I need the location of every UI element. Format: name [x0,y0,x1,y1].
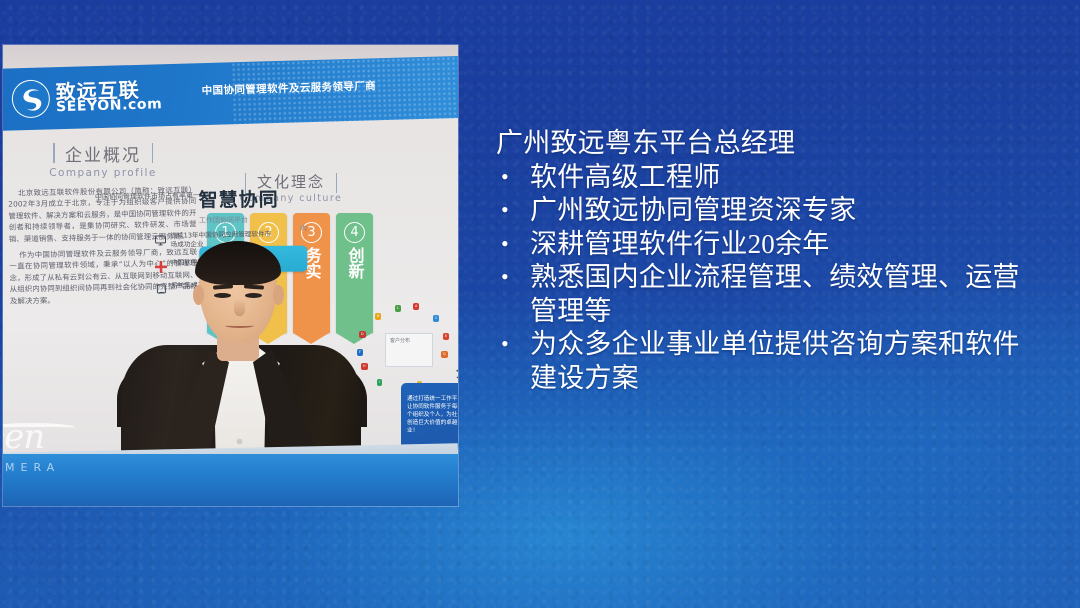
culture-ribbon-number: 4 [344,222,365,243]
profile-title: 企业概况 [55,141,151,166]
shirt-button [237,439,242,444]
client-logo: I [377,379,382,386]
ear-right [273,285,284,305]
poster-mission-label: 企 [456,370,458,378]
poster-blue-base [3,454,458,506]
poster-header-band: 致远互联 SEEYON.com 中国协同管理软件及云服务领导厂商 [3,56,458,131]
bio-bullet-list: 软件高级工程师 广州致远协同管理资深专家 深耕管理软件行业20余年 熟悉国内企业… [492,161,1032,396]
client-logo: L [395,305,401,312]
slide-canvas: 致远互联 SEEYON.com 中国协同管理软件及云服务领导厂商 企业概况 Co… [0,0,1080,608]
mouth [225,323,254,328]
profile-subtitle: Company profile [9,167,197,179]
client-logo: E [443,333,449,340]
brand-name-en: SEEYON.com [56,96,163,115]
poster-mission-box: 企 通过打造统一工作平台让协同软件服务于每一个组织及个人，为社会创造巨大价值的卓… [401,383,458,449]
speaker-bio-text: 广州致远粤东平台总经理 软件高级工程师 广州致远协同管理资深专家 深耕管理软件行… [492,127,1032,395]
seeyon-logo-icon [11,79,50,118]
poster-mission-text: 通过打造统一工作平台让协同软件服务于每一个组织及个人，为社会创造巨大价值的卓越企… [407,396,458,434]
client-logo: H [361,363,368,370]
eye-left [214,293,231,298]
client-map-outline: 客户分布 [385,333,433,367]
client-logo: B [375,313,381,320]
bio-headline: 广州致远粤东平台总经理 [492,127,1032,161]
ear-left [193,285,204,305]
client-cloud-label: 客户分布 [390,337,410,344]
bio-bullet-item: 软件高级工程师 [492,161,1032,195]
bio-bullet-item: 深耕管理软件行业20余年 [492,228,1032,262]
speaker-photo: 致远互联 SEEYON.com 中国协同管理软件及云服务领导厂商 企业概况 Co… [3,45,458,506]
bio-bullet-item: 为众多企业事业单位提供咨询方案和软件建设方案 [492,328,1032,395]
client-logo: G [441,351,448,358]
nose [234,299,245,316]
bio-bullet-item: 广州致远协同管理资深专家 [492,194,1032,228]
poster-tagline: 中国协同管理软件及云服务领导厂商 [201,78,376,98]
client-logo: A [413,303,419,310]
eye-right [245,293,262,298]
smart-subtitle-line1: 工作团协同平台 [199,216,248,224]
bio-bullet-item: 熟悉国内企业流程管理、绩效管理、运营管理等 [492,261,1032,328]
client-logo: C [433,315,439,322]
hair [195,241,281,285]
